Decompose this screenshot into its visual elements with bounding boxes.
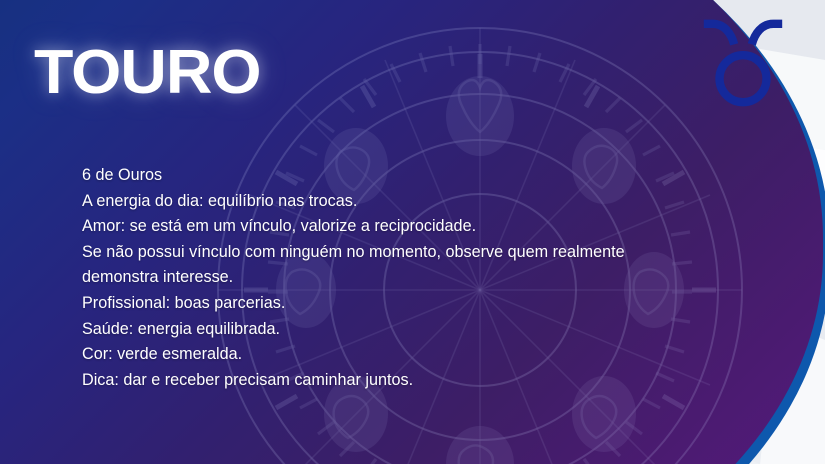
horoscope-card: TOURO 6 de Ouros A energia do dia: equil… <box>0 0 825 464</box>
reading-line: Se não possui vínculo com ninguém no mom… <box>82 240 732 266</box>
reading-line: Amor: se está em um vínculo, valorize a … <box>82 214 732 240</box>
reading-line: Dica: dar e receber precisam caminhar ju… <box>82 368 732 394</box>
reading-line: Saúde: energia equilibrada. <box>82 317 732 343</box>
taurus-glyph-icon <box>694 14 792 112</box>
reading-text: 6 de Ouros A energia do dia: equilíbrio … <box>82 163 732 393</box>
reading-line: 6 de Ouros <box>82 163 732 189</box>
reading-line: A energia do dia: equilíbrio nas trocas. <box>82 189 732 215</box>
reading-line: Cor: verde esmeralda. <box>82 342 732 368</box>
reading-line: Profissional: boas parcerias. <box>82 291 732 317</box>
reading-line: demonstra interesse. <box>82 265 732 291</box>
page-title: TOURO <box>34 42 260 104</box>
